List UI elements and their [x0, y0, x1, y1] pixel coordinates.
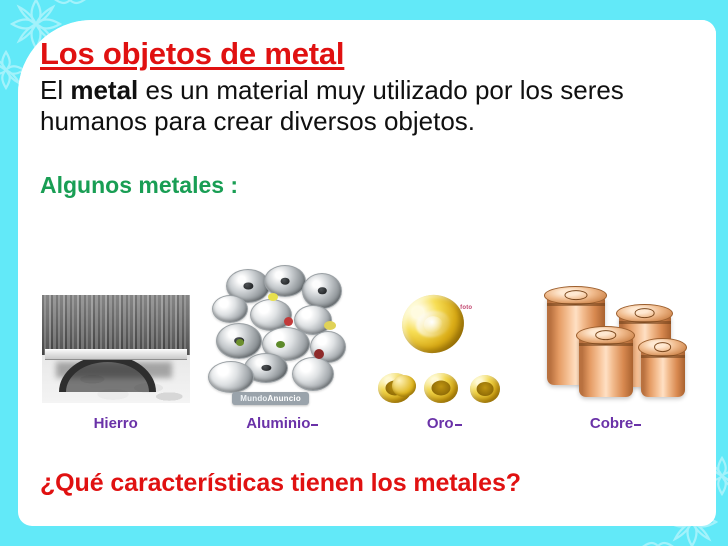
- gold-ring-small: [424, 373, 458, 403]
- pot-knob: [281, 278, 290, 285]
- caption-trailing-mark: [455, 424, 462, 426]
- figure-cobre: Cobre: [525, 279, 706, 432]
- paragraph-prefix: El: [40, 75, 70, 105]
- pot-knob: [244, 282, 253, 289]
- slide: Los objetos de metal El metal es un mate…: [0, 0, 728, 546]
- gold-rings-photo: foto: [374, 291, 514, 409]
- caption-oro-text: Oro: [427, 415, 454, 432]
- canister-band: [641, 355, 685, 358]
- caption-hierro: Hierro: [94, 415, 138, 432]
- copper-canister: [641, 347, 685, 397]
- intro-paragraph: El metal es un material muy utilizado po…: [40, 75, 692, 138]
- copper-canister: [579, 335, 633, 397]
- caption-aluminio: Aluminio: [246, 415, 318, 432]
- watermark-prefix: Mundo: [240, 394, 267, 403]
- bridge-deck: [45, 349, 187, 360]
- copper-canisters-photo: [541, 279, 691, 411]
- paragraph-bold-term: metal: [70, 75, 138, 105]
- canister-band: [579, 343, 633, 346]
- caption-cobre: Cobre: [590, 415, 641, 432]
- aluminium-cookware-photo: MundoAnuncio: [206, 265, 358, 405]
- cookware-pot: [292, 357, 334, 391]
- cookware-pan: [212, 295, 248, 323]
- figure-aluminio: MundoAnuncio Aluminio: [201, 265, 363, 432]
- cookware-lid: [302, 273, 342, 309]
- gold-ring-large: [397, 289, 470, 359]
- subheading: Algunos metales :: [40, 172, 692, 199]
- food-garnish: [324, 321, 336, 330]
- pot-knob: [318, 287, 326, 294]
- metal-examples-row: Hierro: [30, 242, 706, 432]
- figure-hierro: Hierro: [30, 295, 201, 432]
- image-watermark: MundoAnuncio: [232, 392, 309, 405]
- caption-oro: Oro: [427, 415, 462, 432]
- caption-trailing-mark: [311, 424, 318, 426]
- closing-question: ¿Qué características tienen los metales?: [40, 469, 521, 498]
- cookware-rack: [208, 361, 254, 393]
- figure-oro: foto Oro: [363, 291, 525, 432]
- cobre-image: [541, 279, 691, 411]
- pot-knob: [262, 365, 271, 371]
- content-card: Los objetos de metal El metal es un mate…: [18, 20, 716, 526]
- gold-image-mark: foto: [460, 305, 472, 311]
- oro-image: foto: [374, 291, 514, 409]
- page-title: Los objetos de metal: [40, 38, 692, 71]
- hierro-image: [42, 295, 190, 403]
- gold-ring-small: [470, 375, 500, 403]
- iron-bridge-photo: [42, 295, 190, 403]
- forest-band: [42, 295, 190, 355]
- watermark-suffix: Anuncio: [268, 394, 301, 403]
- canister-band: [547, 303, 605, 306]
- aluminio-image: MundoAnuncio: [206, 265, 358, 405]
- food-garnish: [284, 317, 293, 326]
- caption-aluminio-text: Aluminio: [246, 415, 310, 432]
- canister-band: [619, 321, 671, 324]
- caption-hierro-text: Hierro: [94, 415, 138, 432]
- gold-ring-overlap: [392, 375, 416, 397]
- caption-cobre-text: Cobre: [590, 415, 633, 432]
- caption-trailing-mark: [634, 424, 641, 426]
